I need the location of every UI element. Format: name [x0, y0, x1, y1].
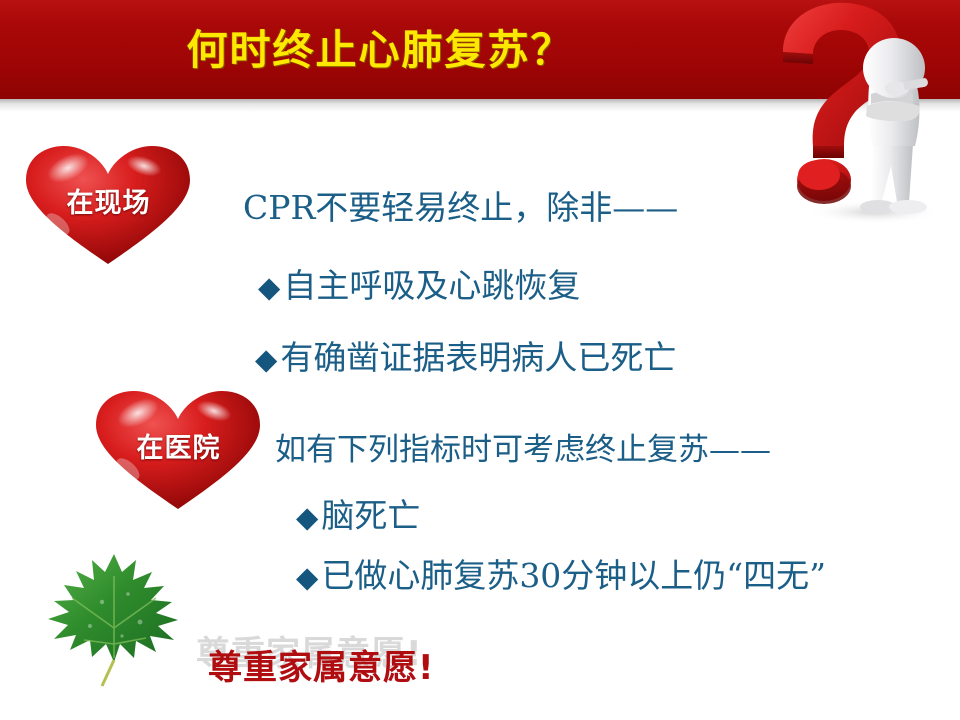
slide-title: 何时终止心肺复苏？ [0, 16, 760, 76]
heart-badge-hospital-label: 在医院 [86, 426, 271, 465]
heart-badge-scene-label: 在现场 [16, 181, 201, 220]
section-hospital-bullet-2-text: 已做心肺复苏30分钟以上仍“四无” [321, 556, 826, 595]
heart-badge-scene: 在现场 [16, 140, 201, 270]
question-mark-thinking-figure-icon [745, 0, 960, 226]
slide-canvas: 何时终止心肺复苏？ [0, 0, 960, 720]
section-scene-heading: CPR不要轻易终止，除非—— [243, 181, 678, 229]
diamond-bullet-icon: ◆ [296, 560, 321, 594]
section-scene-bullet-1: ◆自主呼吸及心跳恢复 [258, 259, 580, 307]
section-scene-bullet-2: ◆有确凿证据表明病人已死亡 [255, 331, 676, 379]
diamond-bullet-icon: ◆ [258, 270, 283, 304]
footer-slogan: 尊重家属意愿! [208, 640, 435, 689]
heart-badge-hospital: 在医院 [86, 385, 271, 515]
section-hospital-heading: 如有下列指标时可考虑终止复苏—— [275, 424, 771, 469]
section-scene-bullet-1-text: 自主呼吸及心跳恢复 [283, 266, 580, 305]
section-hospital-bullet-2: ◆已做心肺复苏30分钟以上仍“四无” [296, 549, 826, 597]
maple-leaf-icon [32, 540, 202, 695]
section-hospital-bullet-1: ◆脑死亡 [296, 489, 420, 537]
footer-slogan-text: 尊重家属意愿! [208, 648, 435, 688]
diamond-bullet-icon: ◆ [255, 342, 280, 376]
section-scene-bullet-2-text: 有确凿证据表明病人已死亡 [280, 338, 676, 377]
section-hospital-bullet-1-text: 脑死亡 [321, 496, 420, 535]
diamond-bullet-icon: ◆ [296, 500, 321, 534]
